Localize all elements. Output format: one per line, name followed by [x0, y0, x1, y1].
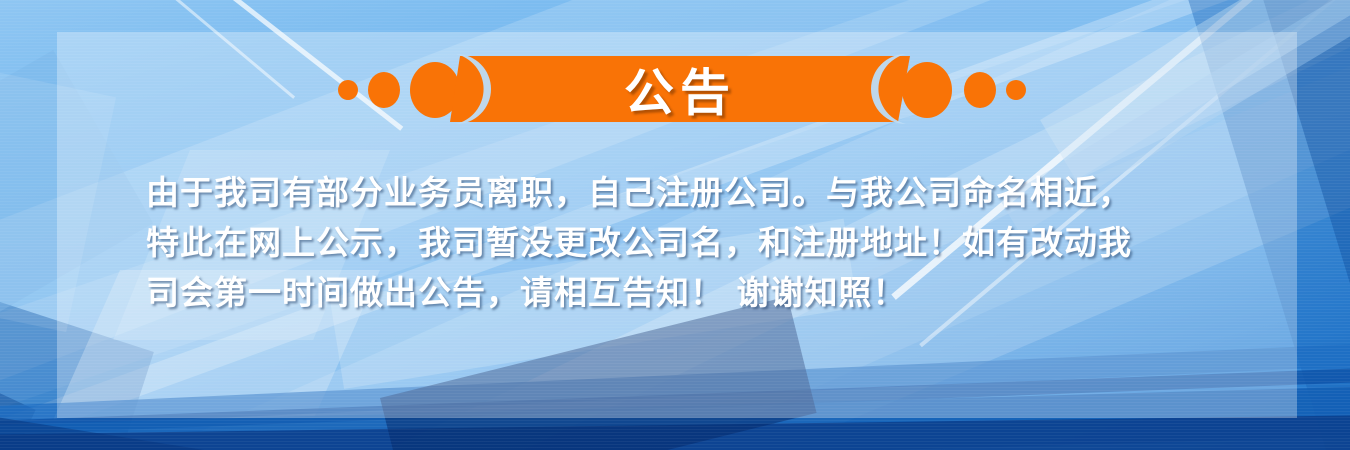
page-title: 公告 — [450, 56, 910, 122]
announcement-line-3: 司会第一时间做出公告，请相互告知！ 谢谢知照！ — [146, 268, 1236, 318]
announcement-banner: 公告 由于我司有部分业务员离职，自己注册公司。与我公司命名相近， 特此在网上公示… — [0, 0, 1350, 450]
announcement-line-1: 由于我司有部分业务员离职，自己注册公司。与我公司命名相近， — [146, 168, 1236, 218]
announcement-line-2: 特此在网上公示，我司暂没更改公司名，和注册地址！如有改动我 — [146, 218, 1236, 268]
announcement-text: 由于我司有部分业务员离职，自己注册公司。与我公司命名相近， 特此在网上公示，我司… — [146, 168, 1236, 318]
title-strip: 公告 — [330, 52, 1030, 130]
